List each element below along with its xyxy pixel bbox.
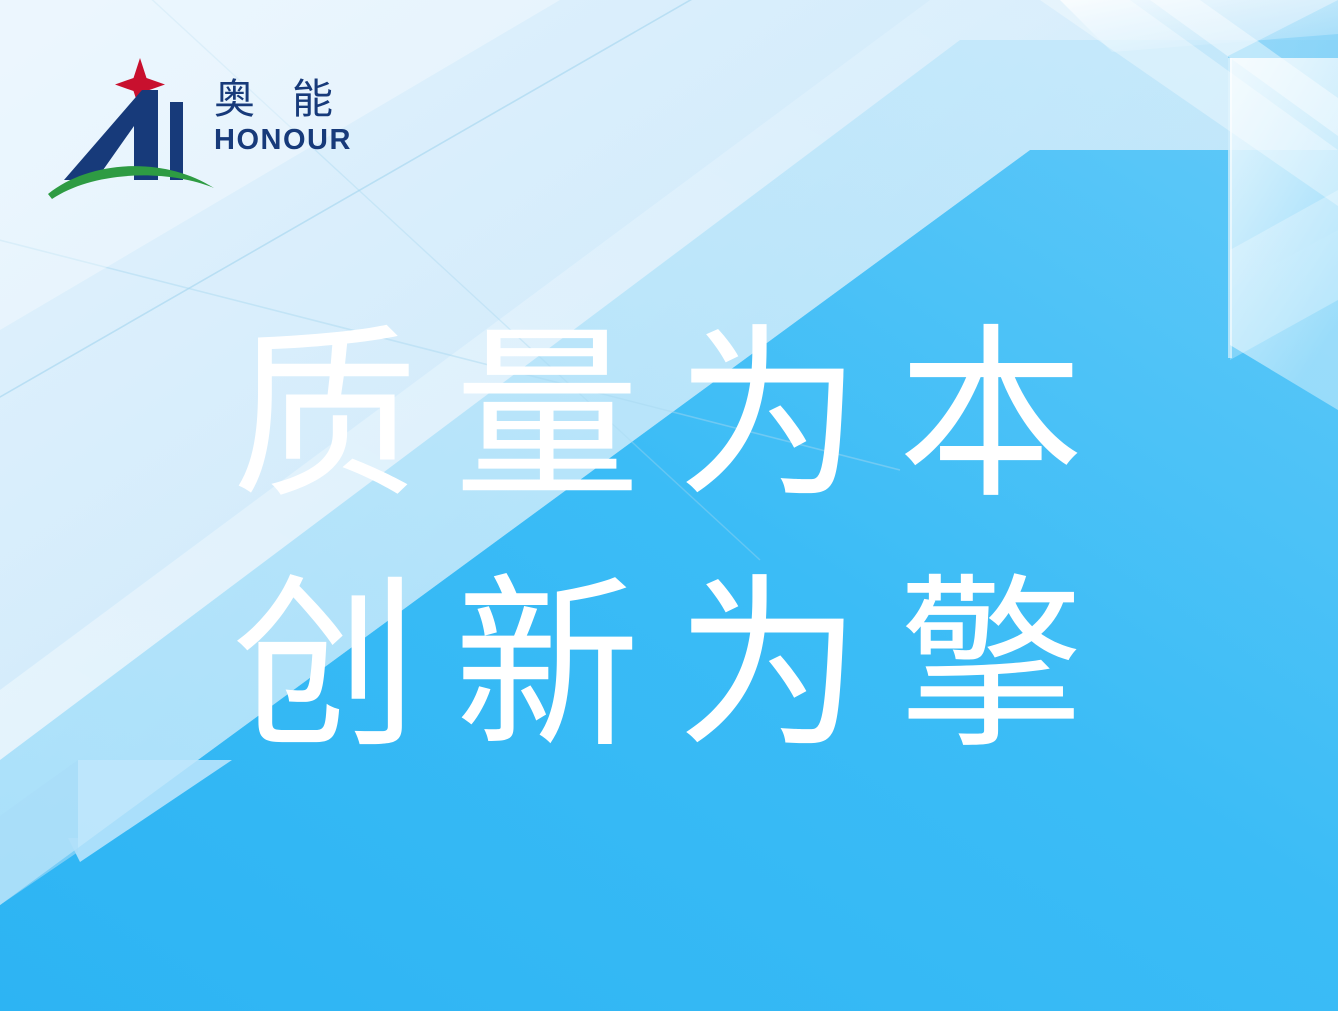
slogan-block: 质量为本 创新为擎 [232,300,1132,782]
logo-name-cn: 奥 能 [214,76,354,122]
poster-canvas: 奥 能 HONOUR 质量为本 创新为擎 [0,0,1338,1011]
logo-wordmark: 奥 能 HONOUR [214,76,354,156]
slogan-line-2: 创新为擎 [232,550,1132,782]
shape-topright-ribbon [1040,0,1338,206]
shape-right-lower-ribbon [1230,190,1338,360]
logo-mark-svg [46,52,216,200]
shape-right-bright-panel [1230,58,1338,410]
shape-right-slab [1228,0,1338,290]
shape-bottom-notch [68,760,232,862]
shape-panel-edge [1228,58,1232,358]
logo-stem-icon [170,102,183,180]
logo-name-en: HONOUR [214,124,354,156]
company-logo[interactable]: 奥 能 HONOUR [46,52,316,200]
shape-bottom-step [0,760,78,905]
slogan-line-1: 质量为本 [232,300,1132,532]
shape-topright-highlight [1060,0,1338,52]
shape-topright-ribbon-2 [1150,0,1338,136]
